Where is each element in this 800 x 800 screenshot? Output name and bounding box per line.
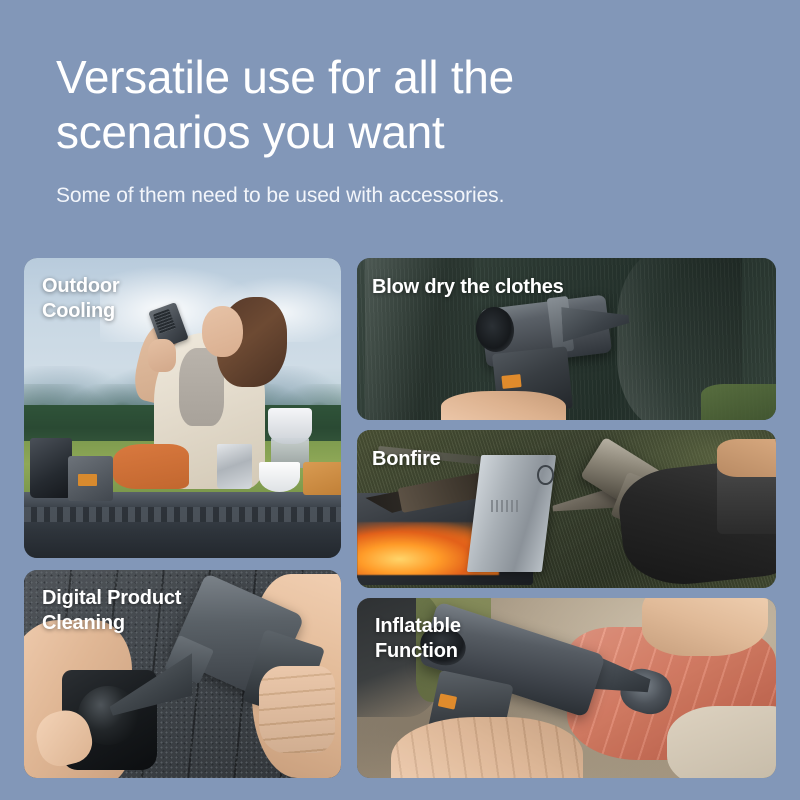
- scenario-card-grid: Outdoor Cooling Digital Product Cleaning: [24, 258, 776, 778]
- card-label-blow-dry-the-clothes: Blow dry the clothes: [372, 275, 564, 300]
- card-bonfire[interactable]: Bonfire: [357, 430, 776, 588]
- page-header: Versatile use for all the scenarios you …: [56, 50, 756, 209]
- card-label-outdoor-cooling: Outdoor Cooling: [42, 274, 119, 324]
- card-blow-dry-the-clothes[interactable]: Blow dry the clothes: [357, 258, 776, 420]
- card-label-digital-product-cleaning: Digital Product Cleaning: [42, 586, 181, 636]
- camping-table: [24, 492, 341, 558]
- woman-hand: [148, 339, 177, 372]
- forearm: [717, 439, 776, 477]
- bread-plate: [303, 462, 341, 495]
- pad-underside: [667, 706, 776, 778]
- card-label-bonfire: Bonfire: [372, 447, 441, 472]
- page-title: Versatile use for all the scenarios you …: [56, 50, 756, 160]
- upper-hand: [642, 598, 768, 656]
- steel-mug: [217, 444, 252, 489]
- holding-hand: [441, 391, 567, 420]
- card-label-inflatable-function: Inflatable Function: [375, 614, 461, 664]
- woman-face: [202, 306, 243, 357]
- card-digital-product-cleaning[interactable]: Digital Product Cleaning: [24, 570, 341, 778]
- table-edge: [24, 507, 341, 522]
- stove-accent: [78, 474, 97, 486]
- card-inflatable-function[interactable]: Inflatable Function: [357, 598, 776, 778]
- right-fingers: [259, 666, 335, 753]
- coffee-kettle: [30, 438, 71, 498]
- white-bowl: [259, 462, 300, 492]
- hook-icon: [537, 465, 554, 486]
- background-grass: [701, 384, 776, 420]
- page-subtitle: Some of them need to be used with access…: [56, 183, 756, 209]
- card-outdoor-cooling[interactable]: Outdoor Cooling: [24, 258, 341, 558]
- woman-skirt: [113, 444, 189, 489]
- plate-markings: [491, 500, 520, 513]
- orange-accent: [501, 374, 521, 389]
